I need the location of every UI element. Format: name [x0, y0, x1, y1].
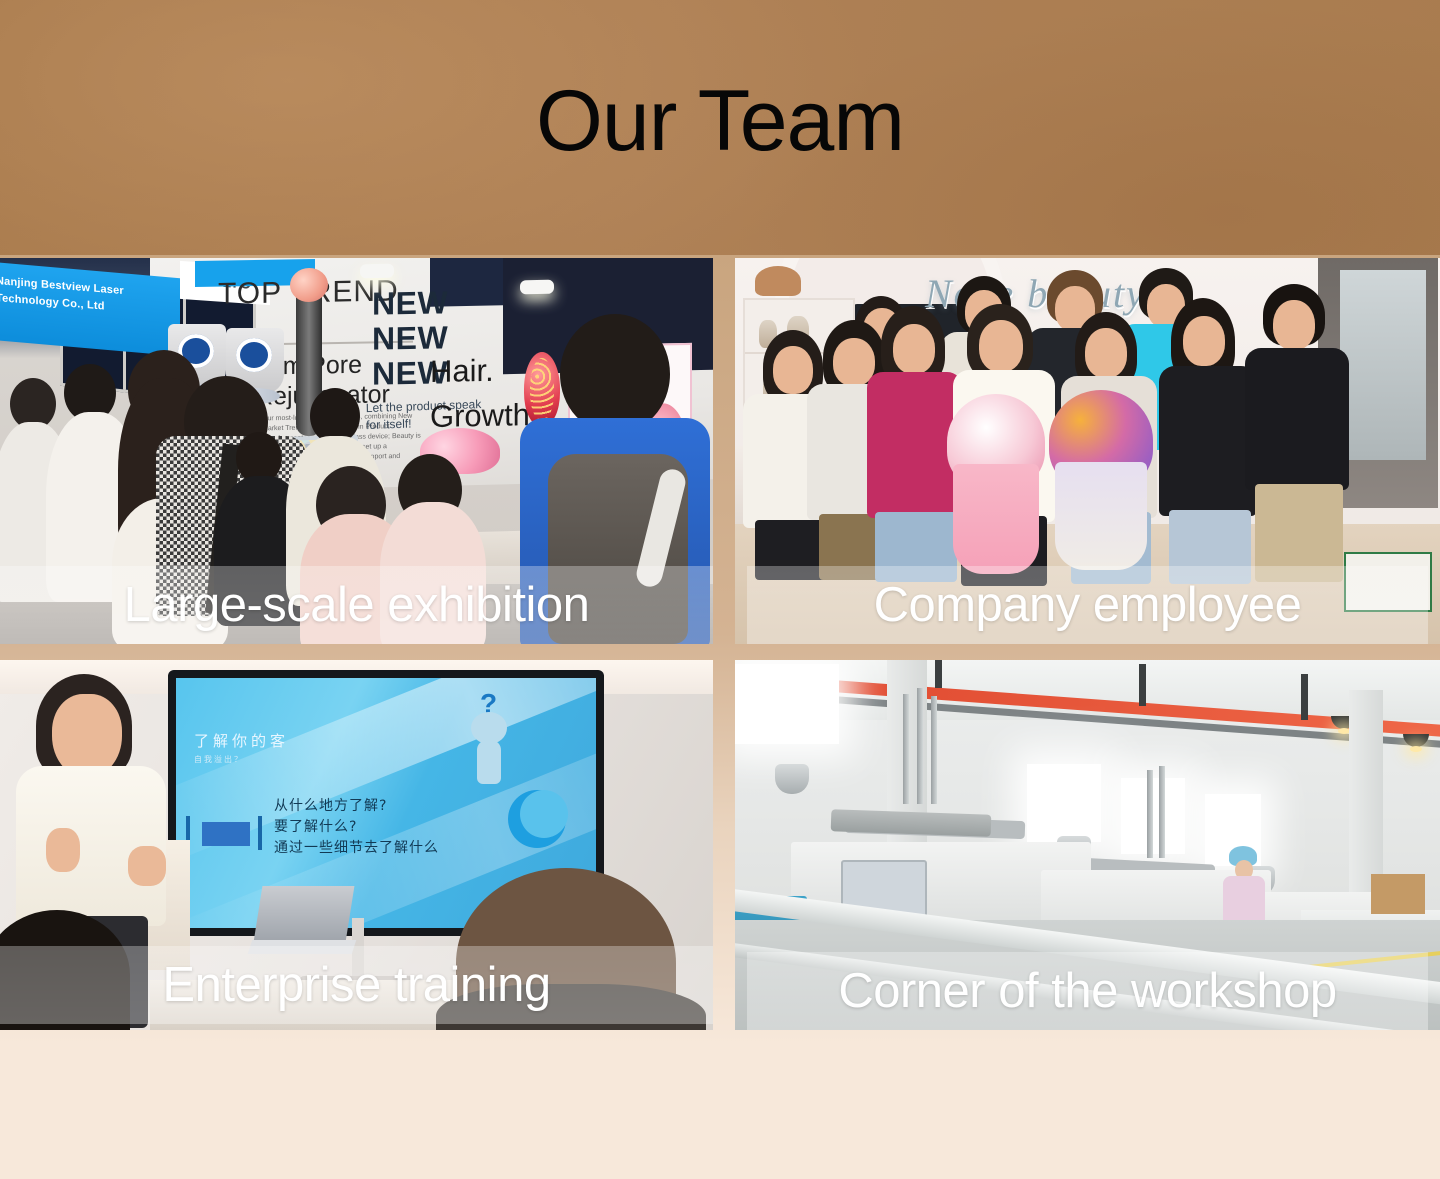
blue-company-banner: Nanjing Bestview Laser Technology Co., L… [0, 262, 180, 357]
booth-spotlight-2 [520, 280, 554, 295]
gallery-item-large-scale-exhibition[interactable]: Nanjing Bestview Laser Technology Co., L… [0, 258, 713, 644]
attendee-head-backpack [560, 314, 670, 434]
caption-bar-4: Corner of the workshop [747, 952, 1428, 1030]
page-header: Our Team [0, 0, 1440, 268]
machine-rod-1 [903, 694, 909, 804]
slide-circle-decor [508, 790, 566, 848]
slide-title: 了解你的客 [194, 730, 289, 751]
trainer-hand-left [46, 828, 80, 872]
caption-bar-2: Company employee [747, 566, 1428, 644]
bouquet-pink-wrap [953, 464, 1039, 574]
booth-spotlight-1 [360, 264, 394, 279]
gallery-item-corner-of-the-workshop[interactable]: Corner of the workshop [735, 660, 1440, 1030]
slide-bracket-right [258, 816, 262, 850]
caption-bar-3: Enterprise training [0, 946, 713, 1024]
caption-large-scale-exhibition: Large-scale exhibition [124, 581, 590, 630]
caption-bar-1: Large-scale exhibition [0, 566, 713, 644]
slide-question-list: 从什么地方了解? 要了解什么? 通过一些细节去了解什么 [274, 796, 439, 859]
team-photo-grid: Nanjing Bestview Laser Technology Co., L… [0, 258, 1440, 1030]
stacked-cartons [1371, 874, 1425, 914]
presenter-laptop [250, 886, 354, 954]
caption-enterprise-training: Enterprise training [162, 961, 550, 1010]
caption-company-employee: Company employee [874, 581, 1302, 630]
trainer-hand-right [128, 846, 166, 886]
copper-decor-object [755, 266, 801, 296]
material-hopper-1 [775, 764, 809, 794]
caption-corner-of-the-workshop: Corner of the workshop [838, 967, 1336, 1016]
slide-blue-card [202, 822, 250, 846]
workshop-window-2 [1027, 764, 1101, 842]
page-title: Our Team [0, 78, 1440, 164]
hair-growth-heading: Hair. Growth. [430, 347, 539, 439]
doorway-glass [1340, 270, 1426, 460]
workshop-window-3 [1121, 778, 1185, 854]
workshop-window-1 [735, 664, 839, 744]
machine-rod-2 [917, 688, 923, 804]
banner-company-name: Nanjing Bestview Laser Technology Co., L… [0, 273, 172, 321]
ceiling-hanger-3 [1301, 674, 1308, 720]
red-led-device-head [524, 352, 560, 426]
machine-rod-3 [931, 696, 937, 804]
machine-rod-4 [1147, 770, 1153, 858]
slide-mascot-figure: ? [468, 696, 510, 792]
our-team-page: Our Team Nanjing Bestview Laser Technolo… [0, 0, 1440, 1179]
ceiling-hanger-1 [935, 660, 942, 688]
gallery-item-company-employee[interactable]: Nove beauty [735, 258, 1440, 644]
slide-subtitle: 自我溢出？ [194, 754, 244, 765]
ceiling-hanger-2 [1139, 664, 1146, 706]
machine-rod-5 [1159, 766, 1165, 858]
bouquet-mixed-wrap [1055, 462, 1147, 570]
gallery-item-enterprise-training[interactable]: 了解你的客 自我溢出？ 从什么地方了解? 要了解什么? 通过一些细节去了解什么 … [0, 660, 713, 1030]
